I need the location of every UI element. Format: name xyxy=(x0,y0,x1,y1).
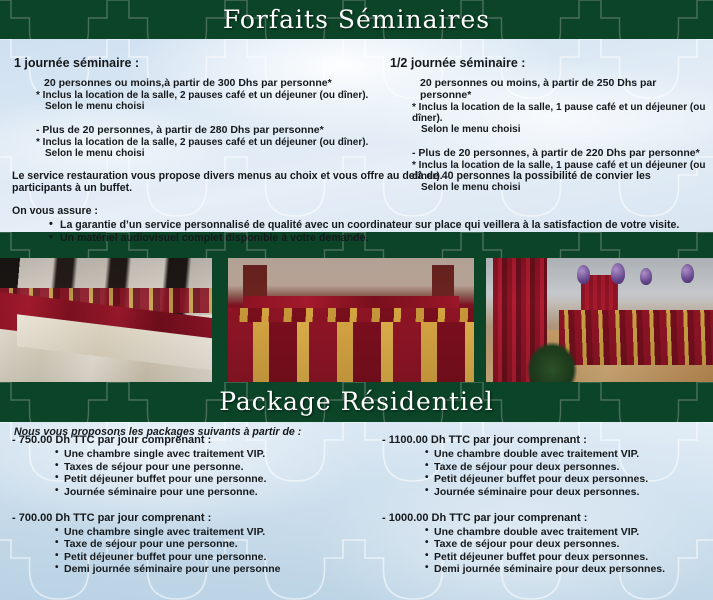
package-title: Package Résidentiel xyxy=(0,382,713,422)
list-item: Demi journée séminaire pour deux personn… xyxy=(434,563,712,575)
list-item: Taxe de séjour pour une personne. xyxy=(64,538,380,550)
list-item: La garantie d’un service personnalisé de… xyxy=(60,219,706,231)
package-price: - 750.00 Dh TTC par jour comprenant : xyxy=(12,434,380,446)
restauration-intro: Le service restauration vous propose div… xyxy=(12,170,706,194)
list-item: Taxe de séjour pour deux personnes. xyxy=(434,538,712,550)
package-item-list: Une chambre double avec traitement VIP. … xyxy=(382,526,712,576)
list-item: Une chambre single avec traitement VIP. xyxy=(64,448,380,460)
photo-shade xyxy=(0,258,212,382)
list-item: Taxe de séjour pour deux personnes. xyxy=(434,461,712,473)
full-day-small-price: 20 personnes ou moins,à partir de 300 Dh… xyxy=(14,77,384,89)
package-block: - 750.00 Dh TTC par jour comprenant : Un… xyxy=(12,434,380,498)
page-title: Forfaits Séminaires xyxy=(0,0,713,39)
photo-shade xyxy=(228,258,474,382)
list-item: Une chambre double avec traitement VIP. xyxy=(434,448,712,460)
half-day-small-includes: * Inclus la location de la salle, 1 paus… xyxy=(390,102,710,124)
half-day-small-price: 20 personnes ou moins, à partir de 250 D… xyxy=(390,77,710,101)
package-item-list: Une chambre double avec traitement VIP. … xyxy=(382,448,712,498)
package-block: - 700.00 Dh TTC par jour comprenant : Un… xyxy=(12,512,380,576)
half-day-large-price: - Plus de 20 personnes, à partir de 220 … xyxy=(390,147,710,159)
package-price: - 700.00 Dh TTC par jour comprenant : xyxy=(12,512,380,524)
package-block: - 1000.00 Dh TTC par jour comprenant : U… xyxy=(382,512,712,576)
list-item: Journée séminaire pour une personne. xyxy=(64,486,380,498)
header-banner: Forfaits Séminaires xyxy=(0,0,713,39)
list-item: Journée séminaire pour deux personnes. xyxy=(434,486,712,498)
full-day-large-menu-note: Selon le menu choisi xyxy=(14,148,384,159)
list-item: Un matériel audiovisuel complet disponib… xyxy=(60,232,706,244)
spacer xyxy=(14,112,384,124)
brochure-page: Forfaits Séminaires 1 journée séminaire … xyxy=(0,0,713,600)
package-banner: Package Résidentiel xyxy=(0,382,713,422)
package-item-list: Une chambre single avec traitement VIP. … xyxy=(12,448,380,498)
package-price: - 1000.00 Dh TTC par jour comprenant : xyxy=(382,512,712,524)
list-item: Une chambre double avec traitement VIP. xyxy=(434,526,712,538)
full-day-small-menu-note: Selon le menu choisi xyxy=(14,101,384,112)
package-column-left: - 750.00 Dh TTC par jour comprenant : Un… xyxy=(12,434,380,589)
list-item: Taxes de séjour pour une personne. xyxy=(64,461,380,473)
spacer xyxy=(390,135,710,147)
photo-conference-hall xyxy=(486,258,713,382)
full-day-seminar-block: 1 journée séminaire : 20 personnes ou mo… xyxy=(14,56,384,159)
list-item: Petit déjeuner buffet pour deux personne… xyxy=(434,551,712,563)
full-day-large-includes: * Inclus la location de la salle, 2 paus… xyxy=(14,137,384,148)
photo-banquet-u-tables xyxy=(0,258,212,382)
list-item: Demi journée séminaire pour une personne xyxy=(64,563,380,575)
package-price: - 1100.00 Dh TTC par jour comprenant : xyxy=(382,434,712,446)
assurance-label: On vous assure : xyxy=(12,205,706,217)
half-day-small-menu-note: Selon le menu choisi xyxy=(390,124,710,135)
list-item: Une chambre single avec traitement VIP. xyxy=(64,526,380,538)
package-column-right: - 1100.00 Dh TTC par jour comprenant : U… xyxy=(382,434,712,589)
full-day-large-price: - Plus de 20 personnes, à partir de 280 … xyxy=(14,124,384,136)
full-day-heading: 1 journée séminaire : xyxy=(14,56,384,70)
restauration-paragraph: Le service restauration vous propose div… xyxy=(12,170,706,245)
half-day-heading: 1/2 journée séminaire : xyxy=(390,56,710,70)
photo-shade xyxy=(486,258,713,382)
gallery-strip xyxy=(0,258,713,382)
package-item-list: Une chambre single avec traitement VIP. … xyxy=(12,526,380,576)
full-day-small-includes: * Inclus la location de la salle, 2 paus… xyxy=(14,90,384,101)
list-item: Petit déjeuner buffet pour une personne. xyxy=(64,551,380,563)
list-item: Petit déjeuner buffet pour une personne. xyxy=(64,473,380,485)
package-block: - 1100.00 Dh TTC par jour comprenant : U… xyxy=(382,434,712,498)
photo-theatre-seating xyxy=(228,258,474,382)
assurance-list: La garantie d’un service personnalisé de… xyxy=(12,219,706,244)
list-item: Petit déjeuner buffet pour deux personne… xyxy=(434,473,712,485)
